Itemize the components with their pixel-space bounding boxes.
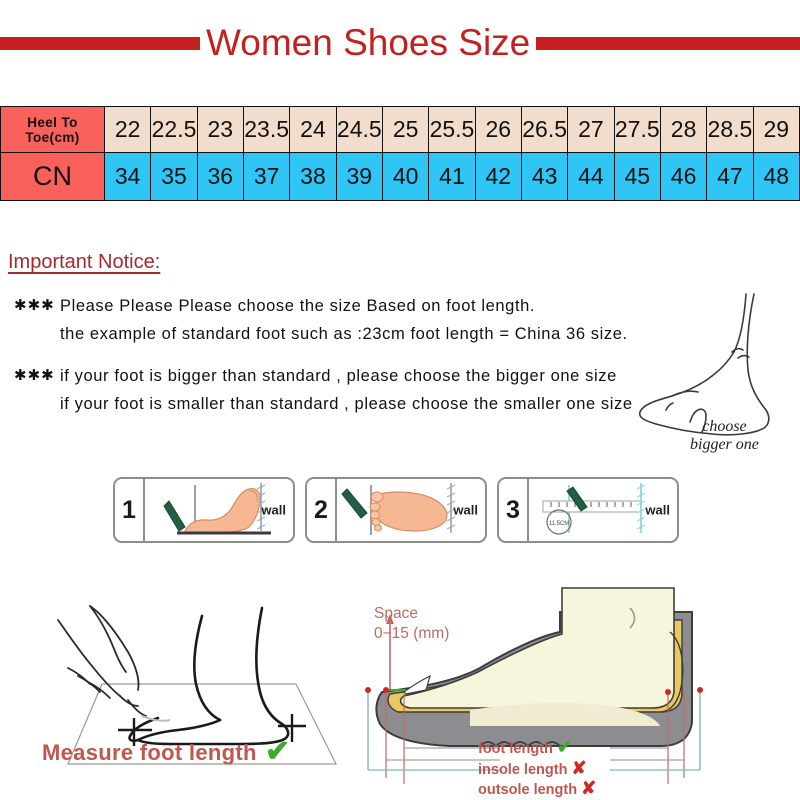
- cell-cn: 40: [382, 153, 428, 201]
- wall-label: wall: [261, 503, 286, 518]
- cell-cm: 23: [197, 107, 243, 153]
- page-title: Women Shoes Size: [200, 22, 536, 64]
- cell-cm: 25: [382, 107, 428, 153]
- notice-line-text: the example of standard foot such as :23…: [60, 320, 628, 348]
- notice-line: if your foot is smaller than standard , …: [14, 390, 674, 418]
- title-rule-right: [536, 37, 800, 50]
- notice-heading: Important Notice:: [8, 251, 160, 274]
- cell-cm: 28.5: [707, 107, 753, 153]
- notice-body: ✱✱✱ Please Please Please choose the size…: [14, 292, 674, 418]
- measure-steps: 1 wall 2: [113, 477, 679, 543]
- cell-cm: 26.5: [521, 107, 567, 153]
- measurement-insole-length: insole length ✘: [478, 759, 596, 780]
- cell-cm: 26: [475, 107, 521, 153]
- row-label-heel-to-toe: Heel To Toe(cm): [1, 107, 105, 153]
- cell-cn: 43: [521, 153, 567, 201]
- step-number: 3: [499, 479, 529, 541]
- cell-cm: 25.5: [429, 107, 475, 153]
- space-label-line-1: Space: [374, 604, 449, 624]
- cell-cm: 27: [568, 107, 614, 153]
- cell-cn: 48: [753, 153, 799, 201]
- cell-cn: 37: [243, 153, 289, 201]
- cell-cn: 41: [429, 153, 475, 201]
- cell-cn: 47: [707, 153, 753, 201]
- cell-cm: 29: [753, 107, 799, 153]
- cell-cn: 34: [105, 153, 151, 201]
- wall-label: wall: [645, 503, 670, 518]
- step-illustration: wall: [337, 479, 483, 541]
- asterisk-icon: ✱✱✱: [14, 292, 60, 320]
- cross-icon: ✘: [581, 778, 596, 798]
- checkmark-icon: ✔: [557, 737, 572, 757]
- measurement-label: insole length: [478, 762, 567, 778]
- ruler-reading: 11.5CM: [549, 521, 570, 527]
- measurement-label: foot length: [478, 741, 553, 757]
- measurement-foot-length: foot length ✔: [478, 738, 596, 759]
- title-rule-left: [0, 37, 200, 50]
- notice-line-text: Please Please Please choose the size Bas…: [60, 292, 535, 320]
- size-conversion-table: Heel To Toe(cm) 22 22.5 23 23.5 24 24.5 …: [0, 106, 800, 201]
- shoe-size-chart-page: Women Shoes Size Heel To Toe(cm) 22 22.5…: [0, 0, 800, 800]
- cell-cn: 36: [197, 153, 243, 201]
- table-row-cn: CN 34 35 36 37 38 39 40 41 42 43 44 45 4…: [1, 153, 800, 201]
- cross-icon: ✘: [571, 758, 586, 778]
- cell-cn: 44: [568, 153, 614, 201]
- shoe-measurement-labels: foot length ✔ insole length ✘ outsole le…: [478, 738, 596, 800]
- notice-line-text: if your foot is smaller than standard , …: [60, 390, 633, 418]
- page-title-row: Women Shoes Size: [0, 18, 800, 68]
- cell-cm: 28: [660, 107, 706, 153]
- step-panel-1: 1 wall: [113, 477, 295, 543]
- cell-cm: 23.5: [243, 107, 289, 153]
- spacer: [14, 348, 674, 362]
- space-label-line-2: 0−15 (mm): [374, 624, 449, 644]
- cell-cm: 27.5: [614, 107, 660, 153]
- caption-line-2: bigger one: [690, 436, 759, 454]
- checkmark-icon: ✔: [265, 734, 290, 769]
- measurement-outsole-length: outsole length ✘: [478, 779, 596, 800]
- step-panel-3: 3 11.5CM: [497, 477, 679, 543]
- cell-cm: 24: [290, 107, 336, 153]
- cell-cm: 22.5: [151, 107, 197, 153]
- cell-cn: 38: [290, 153, 336, 201]
- step-illustration: 11.5CM wall: [529, 479, 675, 541]
- caption-line-1: choose: [690, 418, 759, 436]
- measurement-label: outsole length: [478, 782, 577, 798]
- space-annotation: Space 0−15 (mm): [374, 604, 449, 644]
- cell-cn: 42: [475, 153, 521, 201]
- notice-line: ✱✱✱ if your foot is bigger than standard…: [14, 362, 674, 390]
- table-row-cm: Heel To Toe(cm) 22 22.5 23 23.5 24 24.5 …: [1, 107, 800, 153]
- measure-caption: Measure foot length: [42, 740, 257, 766]
- cell-cn: 35: [151, 153, 197, 201]
- row-label-cn: CN: [1, 153, 105, 201]
- step-panel-2: 2: [305, 477, 487, 543]
- cell-cm: 24.5: [336, 107, 382, 153]
- cell-cm: 22: [105, 107, 151, 153]
- step-illustration: wall: [145, 479, 291, 541]
- step-number: 2: [307, 479, 337, 541]
- cell-cn: 39: [336, 153, 382, 201]
- cell-cn: 45: [614, 153, 660, 201]
- asterisk-icon: ✱✱✱: [14, 362, 60, 390]
- cell-cn: 46: [660, 153, 706, 201]
- notice-line-text: if your foot is bigger than standard , p…: [60, 362, 617, 390]
- foot-sketch-caption: choose bigger one: [690, 418, 759, 454]
- wall-label: wall: [453, 503, 478, 518]
- notice-line: the example of standard foot such as :23…: [14, 320, 674, 348]
- notice-line: ✱✱✱ Please Please Please choose the size…: [14, 292, 674, 320]
- step-number: 1: [115, 479, 145, 541]
